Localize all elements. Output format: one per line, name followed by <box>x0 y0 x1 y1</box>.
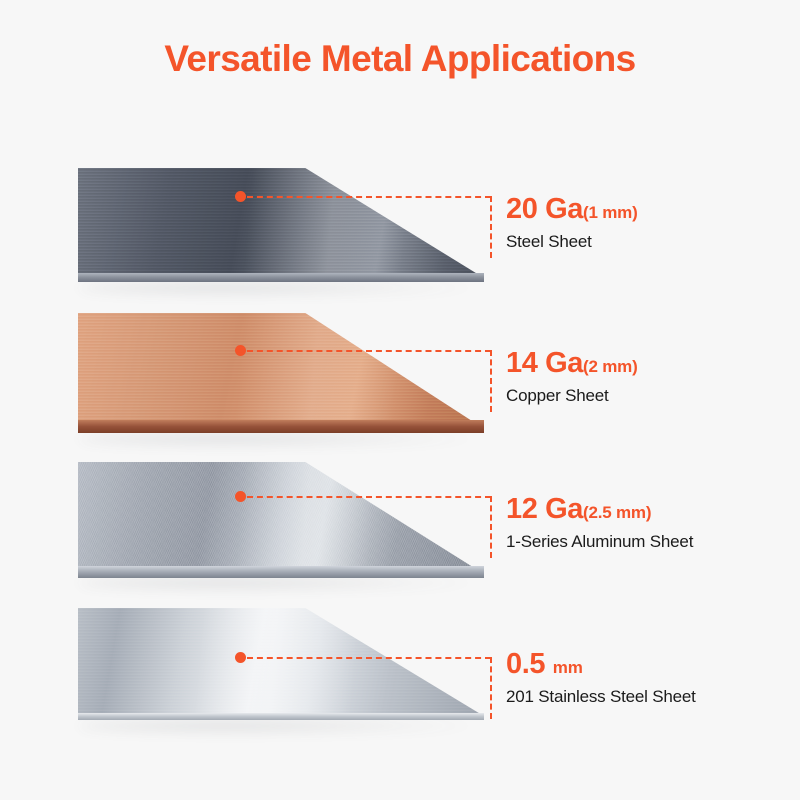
page-title: Versatile Metal Applications <box>0 38 800 80</box>
callout-line-horizontal-stainless <box>247 657 491 659</box>
copper-sheet-face <box>78 313 484 433</box>
copper-sheen <box>78 313 484 433</box>
callout-dot-stainless <box>235 652 246 663</box>
stainless-sheen <box>78 608 484 720</box>
stainless-sheet-graphic <box>78 608 484 720</box>
steel-sheet-edge <box>78 273 484 282</box>
aluminum-sheen <box>78 462 484 578</box>
sheet-shadow <box>78 718 484 734</box>
gauge-value-steel: 20 Ga(1 mm) <box>506 195 638 224</box>
infographic-canvas: Versatile Metal Applications 20 Ga(1 mm)… <box>0 0 800 800</box>
gauge-value-copper: 14 Ga(2 mm) <box>506 349 638 378</box>
callout-label-copper: 14 Ga(2 mm) Copper Sheet <box>506 349 638 404</box>
callout-label-steel: 20 Ga(1 mm) Steel Sheet <box>506 195 638 250</box>
callout-label-aluminum: 12 Ga(2.5 mm) 1-Series Aluminum Sheet <box>506 495 693 550</box>
callout-label-stainless: 0.5 mm 201 Stainless Steel Sheet <box>506 650 696 705</box>
gauge-number-steel: 20 Ga <box>506 193 583 225</box>
steel-sheet-face <box>78 168 484 282</box>
gauge-value-stainless: 0.5 mm <box>506 650 696 679</box>
callout-line-vertical-stainless <box>490 657 492 719</box>
callout-line-vertical-steel <box>490 196 492 258</box>
aluminum-sheet-edge <box>78 566 484 578</box>
gauge-value-aluminum: 12 Ga(2.5 mm) <box>506 495 693 524</box>
callout-line-horizontal-aluminum <box>247 496 491 498</box>
material-name-stainless: 201 Stainless Steel Sheet <box>506 688 696 705</box>
callout-dot-copper <box>235 345 246 356</box>
stainless-sheet-edge <box>78 713 484 720</box>
sheet-shadow <box>78 431 484 447</box>
material-name-aluminum: 1-Series Aluminum Sheet <box>506 533 693 550</box>
material-name-steel: Steel Sheet <box>506 233 638 250</box>
stainless-sheet-face <box>78 608 484 720</box>
callout-dot-aluminum <box>235 491 246 502</box>
aluminum-sheet-graphic <box>78 462 484 578</box>
steel-sheen <box>78 168 484 282</box>
sheet-shadow <box>78 280 484 296</box>
gauge-number-copper: 14 Ga <box>506 347 583 379</box>
gauge-thickness-stainless: mm <box>553 658 583 677</box>
copper-sheet-edge <box>78 420 484 433</box>
copper-sheet-graphic <box>78 313 484 433</box>
callout-dot-steel <box>235 191 246 202</box>
gauge-thickness-copper: (2 mm) <box>583 357 638 376</box>
callout-line-vertical-copper <box>490 350 492 412</box>
steel-sheet-graphic <box>78 168 484 282</box>
callout-line-horizontal-steel <box>247 196 491 198</box>
gauge-thickness-aluminum: (2.5 mm) <box>583 503 651 522</box>
gauge-thickness-steel: (1 mm) <box>583 203 638 222</box>
aluminum-sheet-face <box>78 462 484 578</box>
callout-line-horizontal-copper <box>247 350 491 352</box>
gauge-number-aluminum: 12 Ga <box>506 493 583 525</box>
material-name-copper: Copper Sheet <box>506 387 638 404</box>
callout-line-vertical-aluminum <box>490 496 492 558</box>
gauge-number-stainless: 0.5 <box>506 648 545 680</box>
